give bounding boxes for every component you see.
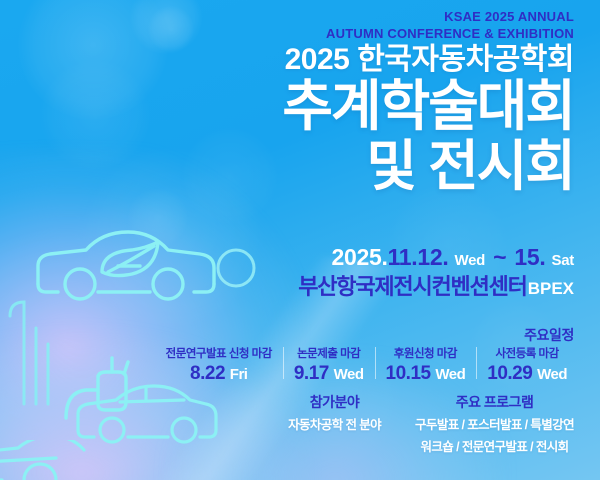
bokeh-circle	[182, 128, 278, 224]
title-main-line-1: 추계학술대회	[282, 78, 574, 135]
footer-block: 참가분야 자동차공학 전 분야 주요 프로그램 구두발표 / 포스터발표 / 특…	[288, 392, 574, 456]
title-main-line-2: 및 전시회	[282, 138, 574, 195]
footer-programs-heading: 주요 프로그램	[415, 392, 574, 412]
schedule-item: 전문연구발표 신청 마감 8.22 Fri	[155, 345, 283, 385]
schedule-date-dow: Wed	[435, 366, 465, 383]
schedule-item-name: 논문제출 마감	[294, 345, 364, 361]
schedule-item-name: 후원신청 마감	[386, 345, 466, 361]
footer-fields-line-1: 자동차공학 전 분야	[288, 416, 381, 434]
footer-programs-line-1: 구두발표 / 포스터발표 / 특별강연	[415, 416, 574, 434]
page-title: 2025 한국자동차공학회 추계학술대회 및 전시회	[282, 44, 574, 195]
schedule-item-date: 8.22 Fri	[166, 363, 272, 385]
venue-abbreviation: BPEX	[527, 279, 574, 298]
event-start-dow: Wed	[455, 252, 486, 269]
footer-programs-line-2: 워크숍 / 전문연구발표 / 전시회	[415, 438, 574, 456]
footer-fields-column: 참가분야 자동차공학 전 분야	[288, 392, 381, 434]
schedule-item-date: 10.29 Wed	[487, 363, 567, 385]
schedule-item-name: 사전등록 마감	[487, 345, 567, 361]
event-date: 2025.11.12. Wed ~ 15. Sat	[298, 244, 574, 271]
poster-canvas: KSAE 2025 ANNUAL AUTUMN CONFERENCE & EXH…	[0, 0, 600, 480]
schedule-date-dow: Fri	[230, 366, 248, 383]
event-end-date: 15.	[514, 244, 545, 270]
schedule-date-dow: Wed	[334, 366, 364, 383]
event-year: 2025.	[332, 244, 388, 270]
schedule-date-value: 8.22	[190, 363, 225, 384]
schedule-item-name: 전문연구발표 신청 마감	[166, 345, 272, 361]
eyebrow-heading: KSAE 2025 ANNUAL AUTUMN CONFERENCE & EXH…	[326, 8, 574, 42]
schedule-date-value: 10.15	[386, 363, 431, 384]
schedule-row: 전문연구발표 신청 마감 8.22 Fri 논문제출 마감 9.17 Wed 후…	[160, 345, 578, 385]
schedule-heading: 주요일정	[524, 325, 574, 345]
schedule-item-date: 9.17 Wed	[294, 363, 364, 385]
schedule-date-dow: Wed	[537, 366, 567, 383]
venue-name: 부산항국제전시컨벤션센터	[298, 274, 526, 299]
footer-fields-heading: 참가분야	[288, 392, 381, 412]
bokeh-circle	[40, 60, 150, 170]
event-end-dow: Sat	[552, 252, 574, 269]
event-start-date: 11.12.	[388, 244, 449, 270]
schedule-item-date: 10.15 Wed	[386, 363, 466, 385]
eyebrow-line-2: AUTUMN CONFERENCE & EXHIBITION	[326, 25, 574, 42]
bokeh-circle	[148, 6, 194, 52]
eyebrow-line-1: KSAE 2025 ANNUAL	[326, 8, 574, 25]
schedule-date-value: 10.29	[487, 363, 532, 384]
footer-programs-column: 주요 프로그램 구두발표 / 포스터발표 / 특별강연 워크숍 / 전문연구발표…	[415, 392, 574, 456]
schedule-date-value: 9.17	[294, 363, 329, 384]
schedule-item: 사전등록 마감 10.29 Wed	[476, 345, 578, 385]
schedule-item: 후원신청 마감 10.15 Wed	[375, 345, 477, 385]
schedule-item: 논문제출 마감 9.17 Wed	[283, 345, 375, 385]
date-range-separator: ~	[491, 244, 508, 270]
event-when-block: 2025.11.12. Wed ~ 15. Sat 부산항국제전시컨벤션센터BP…	[298, 244, 574, 300]
event-venue: 부산항국제전시컨벤션센터BPEX	[298, 274, 574, 300]
title-subtitle: 2025 한국자동차공학회	[282, 44, 574, 76]
